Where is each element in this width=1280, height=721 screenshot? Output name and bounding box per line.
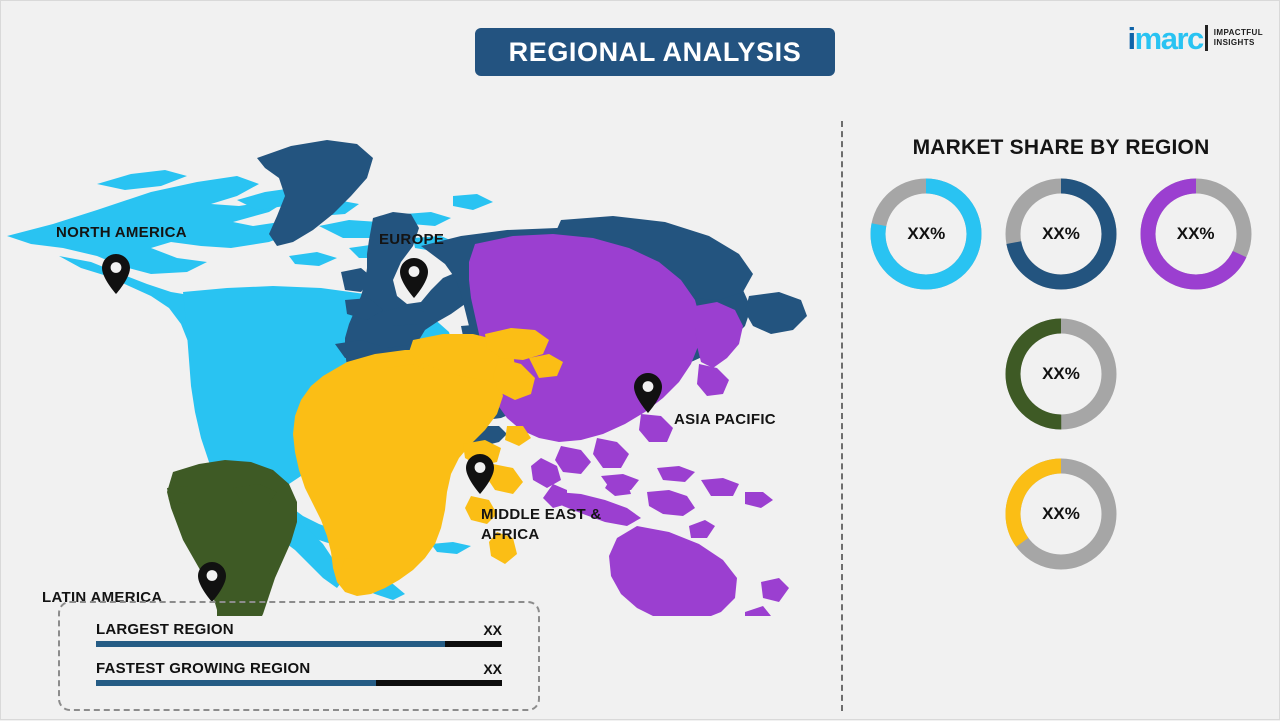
legend-bar-fill-fastest-growing-region [96,680,376,686]
legend-row-fastest-growing-region: FASTEST GROWING REGION XX [96,660,502,686]
page-title: REGIONAL ANALYSIS [509,37,802,68]
map-region-latin-america [167,460,297,616]
legend-value-largest-region: XX [483,622,502,638]
donut-value-label: XX% [1000,313,1122,435]
map-pin-icon-europe[interactable] [399,258,429,298]
donut-value-label: XX% [1135,173,1257,295]
world-map-graphic [1,96,831,616]
legend-bar-track-fastest-growing-region [96,680,502,686]
market-share-panel: MARKET SHARE BY REGION XX%XX%XX%XX%XX% [841,111,1280,721]
logo-tagline-line2: INSIGHTS [1214,38,1263,48]
legend-row-largest-region: LARGEST REGION XX [96,621,502,647]
logo-letter-i: i [1128,21,1135,56]
page-title-banner: REGIONAL ANALYSIS [475,28,835,76]
legend-label-fastest-growing-region: FASTEST GROWING REGION [96,660,310,677]
donut-chart-row-last: XX% [859,453,1263,575]
donut-chart: XX% [1000,313,1122,435]
map-pin-icon-middle-east-africa[interactable] [465,454,495,494]
map-label-europe: EUROPE [379,230,444,250]
legend-value-fastest-growing-region: XX [483,661,502,677]
map-label-middle-east-africa: MIDDLE EAST & AFRICA [481,505,602,546]
donut-value-label: XX% [865,173,987,295]
donut-value-label: XX% [1000,173,1122,295]
donut-value-label: XX% [1000,453,1122,575]
map-pin-icon-north-america[interactable] [101,254,131,294]
world-map-panel: NORTH AMERICA EUROPE ASIA PACIFIC MIDDLE… [1,96,831,616]
logo-divider-bar [1205,25,1208,51]
legend-bar-fill-largest-region [96,641,445,647]
market-share-heading: MARKET SHARE BY REGION [841,136,1280,160]
logo-letters-marc: marc [1135,21,1203,56]
donut-chart: XX% [1135,173,1257,295]
donut-chart: XX% [865,173,987,295]
logo-wordmark: imarc [1128,23,1203,54]
region-summary-box: LARGEST REGION XX FASTEST GROWING REGION… [58,601,540,711]
legend-bar-track-largest-region [96,641,502,647]
map-label-asia-pacific: ASIA PACIFIC [674,410,776,430]
donut-chart: XX% [1000,173,1122,295]
map-pin-icon-asia-pacific[interactable] [633,373,663,413]
map-label-north-america: NORTH AMERICA [56,223,187,243]
donut-chart: XX% [1000,453,1122,575]
map-pin-icon-latin-america[interactable] [197,562,227,602]
donut-chart-grid: XX%XX%XX%XX%XX% [859,173,1263,575]
logo-tagline-line1: IMPACTFUL [1214,28,1263,38]
imarc-logo: imarc IMPACTFUL INSIGHTS [1128,21,1263,55]
legend-label-largest-region: LARGEST REGION [96,621,234,638]
logo-tagline: IMPACTFUL INSIGHTS [1214,28,1263,48]
